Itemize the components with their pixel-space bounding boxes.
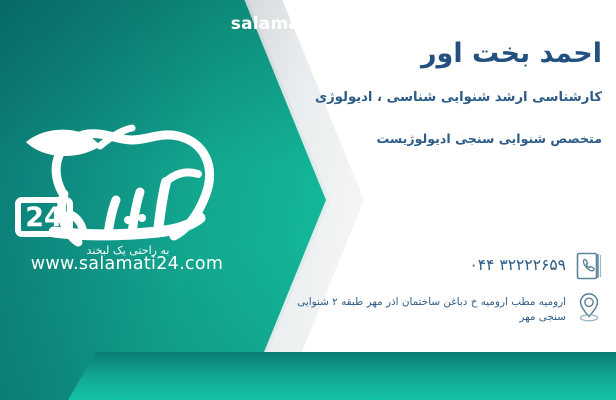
address-line-2: سنجی مهر (297, 310, 566, 325)
brand-logo: 24 به راحتی یک لبخند www.salamati24.com (8, 108, 260, 276)
footer-bar (0, 352, 616, 400)
phone-row: ۳۲۲۲۲۶۵۹ ۰۴۴ (469, 250, 604, 282)
phone-number: ۳۲۲۲۲۶۵۹ ۰۴۴ (469, 250, 566, 274)
location-pin-icon (574, 291, 604, 323)
svg-text:24: 24 (25, 202, 63, 233)
card-content: احمد بخت اور کارشناسی ارشد شنوایی شناسی … (330, 0, 616, 400)
business-card: 24 به راحتی یک لبخند www.salamati24.com … (0, 0, 616, 400)
phone-book-icon (574, 250, 604, 282)
person-qualification: کارشناسی ارشد شنوایی شناسی ، ادیولوژی (315, 90, 602, 105)
person-specialty: متخصص شنوایی سنجی ادیولوژیست (377, 131, 602, 146)
address-line-1: ارومیه مطب ارومیه خ دباغن ساختمان اذر مه… (297, 295, 566, 310)
logo-website-url: www.salamati24.com (8, 254, 246, 274)
footer-website: salamati24.com (0, 0, 616, 48)
address-text: ارومیه مطب ارومیه خ دباغن ساختمان اذر مه… (297, 291, 566, 325)
address-row: ارومیه مطب ارومیه خ دباغن ساختمان اذر مه… (336, 291, 604, 325)
